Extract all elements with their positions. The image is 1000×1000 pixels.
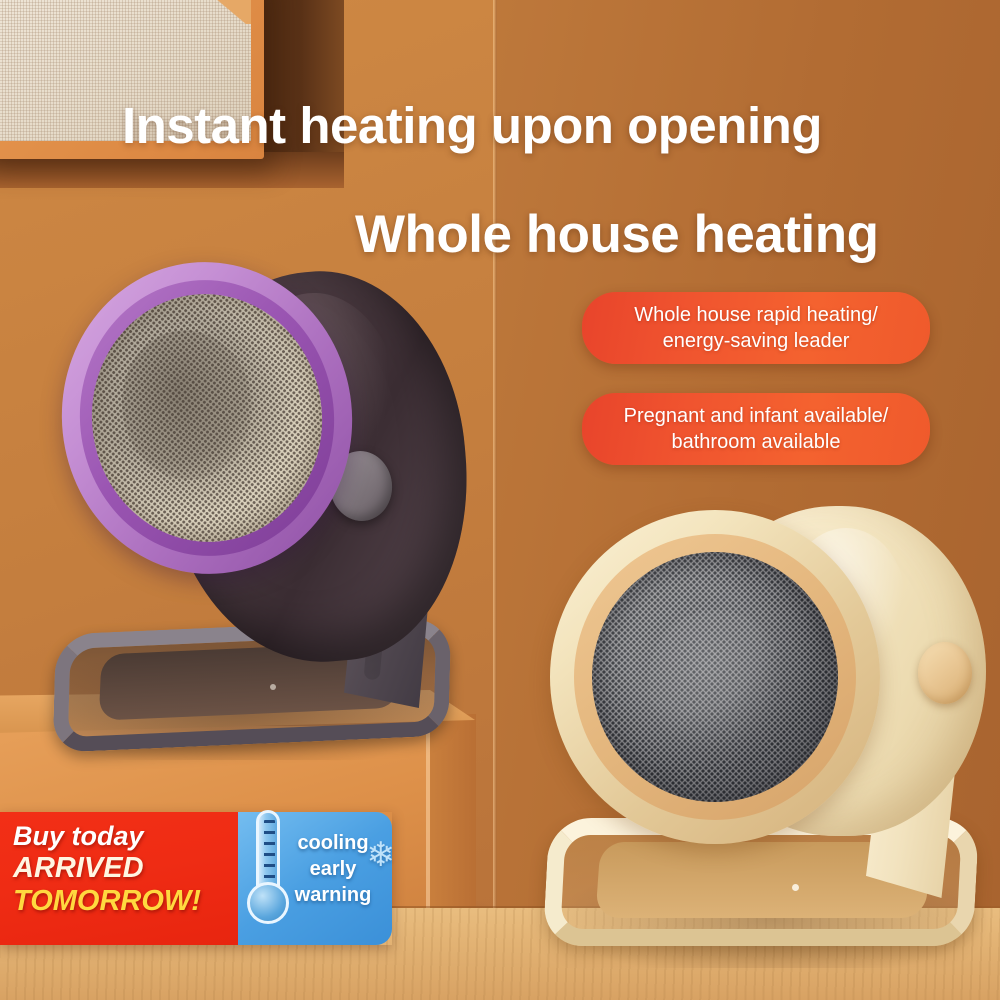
promo-banner[interactable]: Buy today ARRIVED TOMORROW! cooling earl… bbox=[0, 812, 392, 945]
cream-space-heater bbox=[536, 492, 991, 962]
cream-heater-base-screw bbox=[792, 884, 799, 891]
cream-heater-grille-center bbox=[648, 610, 784, 750]
headline-secondary: Whole house heating bbox=[355, 204, 878, 265]
cream-heater-pivot-knob bbox=[918, 642, 972, 704]
thermometer-ticks bbox=[264, 820, 275, 884]
promo-banner-blue-panel: cooling early warning ❄ bbox=[238, 812, 392, 945]
headline-primary: Instant heating upon opening bbox=[122, 96, 822, 155]
promo-line-tomorrow: TOMORROW! bbox=[13, 885, 238, 918]
product-advertisement-banner: Instant heating upon opening Whole house… bbox=[0, 0, 1000, 1000]
feature-badge-1-line-2: energy-saving leader bbox=[604, 328, 908, 354]
purple-heater-base-screw bbox=[270, 684, 276, 690]
feature-badge-2-line-2: bathroom available bbox=[604, 429, 908, 455]
purple-space-heater bbox=[48, 252, 468, 752]
promo-banner-red-panel: Buy today ARRIVED TOMORROW! bbox=[0, 812, 238, 945]
snowflake-icon: ❄ bbox=[367, 838, 396, 872]
promo-line-arrived: ARRIVED bbox=[13, 852, 238, 885]
promo-line-buy-today: Buy today bbox=[13, 821, 238, 852]
feature-badge-1-line-1: Whole house rapid heating/ bbox=[604, 302, 908, 328]
feature-badge-2-line-1: Pregnant and infant available/ bbox=[604, 403, 908, 429]
artwork-corner-accent bbox=[177, 0, 251, 24]
feature-badge-rapid-heating: Whole house rapid heating/ energy-saving… bbox=[582, 292, 930, 364]
feature-badge-safety: Pregnant and infant available/ bathroom … bbox=[582, 393, 930, 465]
